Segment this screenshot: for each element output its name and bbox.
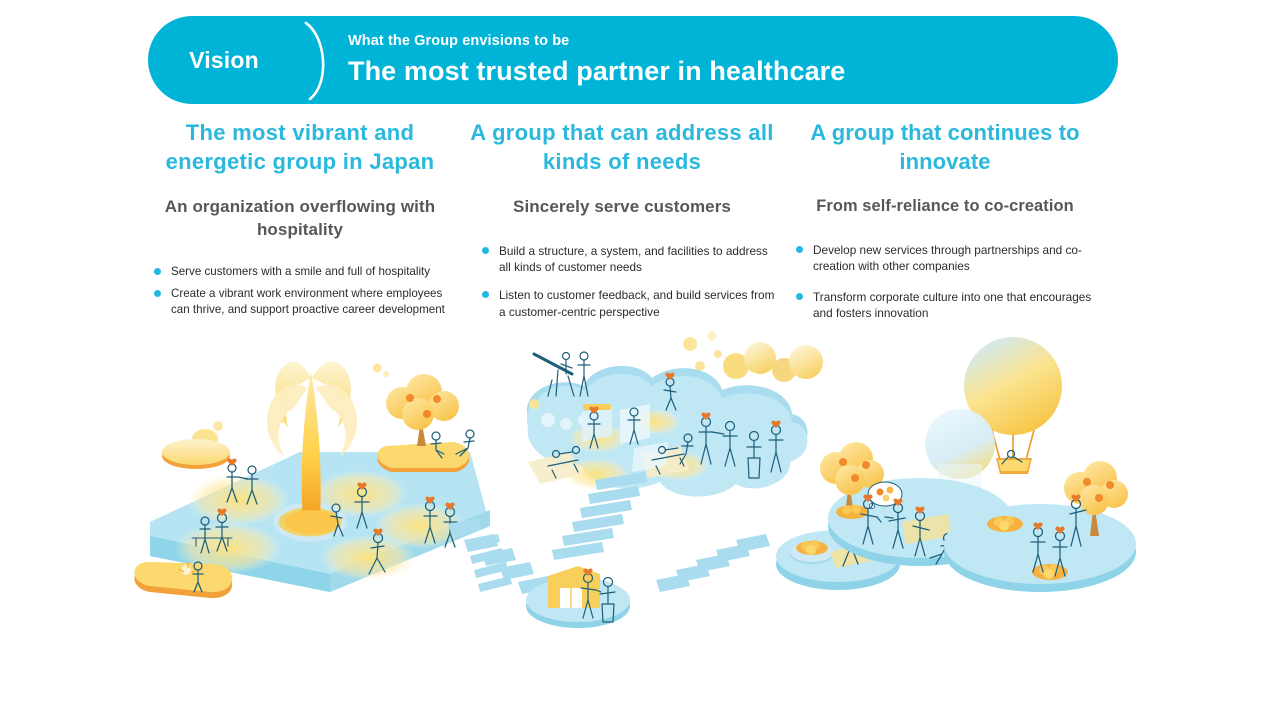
pillar-bullets-2: Build a structure, a system, and facilit… — [462, 243, 782, 320]
list-item: Build a structure, a system, and facilit… — [480, 243, 782, 276]
banner-paren-divider-icon — [300, 21, 336, 99]
pillar-subheading-2: Sincerely serve customers — [462, 196, 782, 219]
pillar-heading-3: A group that continues to innovate — [784, 118, 1106, 176]
pillar-columns: The most vibrant and energetic group in … — [0, 118, 1280, 338]
pillar-column-3: A group that continues to innovate From … — [784, 118, 1106, 335]
list-item: Serve customers with a smile and full of… — [152, 264, 460, 280]
list-item: Create a vibrant work environment where … — [152, 286, 460, 318]
illustration-panel-1 — [134, 362, 512, 598]
pillar-heading-1: The most vibrant and energetic group in … — [140, 118, 460, 176]
pillar-column-2: A group that can address all kinds of ne… — [462, 118, 782, 332]
stepping-stones-right — [656, 534, 770, 592]
pillar-column-1: The most vibrant and energetic group in … — [140, 118, 460, 324]
illustration-panel-3 — [776, 337, 1136, 592]
banner-eyebrow: What the Group envisions to be — [348, 33, 1118, 49]
list-item: Transform corporate culture into one tha… — [794, 289, 1106, 322]
pillar-heading-2: A group that can address all kinds of ne… — [462, 118, 782, 176]
pillar-subheading-3: From self-reliance to co-creation — [784, 196, 1106, 218]
house-island — [526, 566, 630, 628]
small-plinth-bottom — [134, 562, 232, 598]
pillar-bullets-3: Develop new services through partnership… — [784, 242, 1106, 321]
small-plinth-left — [162, 439, 230, 469]
vision-illustration — [0, 326, 1280, 656]
banner-title: The most trusted partner in healthcare — [348, 56, 1118, 87]
pillar-subheading-1: An organization overflowing with hospita… — [140, 196, 460, 242]
vision-banner: Vision What the Group envisions to be Th… — [148, 16, 1118, 104]
fruit-tree-1 — [377, 374, 469, 472]
list-item: Develop new services through partnership… — [794, 242, 1106, 275]
vision-label: Vision — [148, 47, 300, 74]
pillar-bullets-1: Serve customers with a smile and full of… — [140, 264, 460, 318]
banner-text-group: What the Group envisions to be The most … — [336, 33, 1118, 87]
list-item: Listen to customer feedback, and build s… — [480, 287, 782, 320]
